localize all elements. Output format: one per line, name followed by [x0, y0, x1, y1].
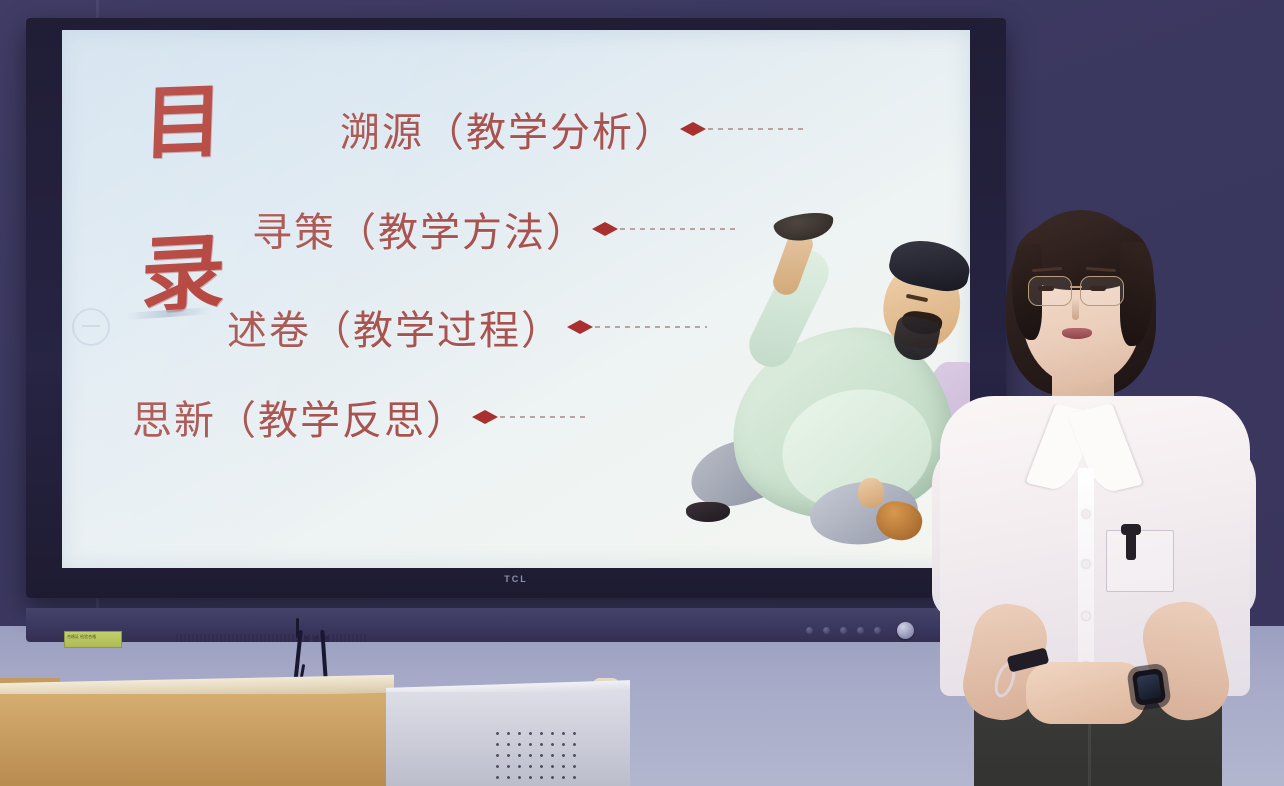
presenter-eye-right	[1090, 286, 1106, 291]
toc-item-3-label: 述卷（教学过程）	[227, 298, 563, 356]
tv-button-source[interactable]	[823, 627, 830, 634]
port-usb[interactable]	[304, 636, 309, 642]
toc-item-1-label: 溯源（教学分析）	[340, 100, 676, 158]
poet-figurine-illustration	[662, 210, 970, 568]
tv-button-standby[interactable]	[874, 627, 881, 634]
toc-item-3[interactable]: 述卷（教学过程）	[227, 298, 707, 356]
toc-item-4-label: 思新（教学反思）	[132, 388, 468, 446]
toc-item-1-dots	[708, 128, 804, 130]
tv-brand-logo: TCL	[26, 574, 1006, 584]
toc-item-1[interactable]: 溯源（教学分析）	[340, 100, 804, 158]
shirt-button-2	[1082, 560, 1090, 568]
lapel-microphone-icon	[1126, 526, 1136, 560]
tv-button-volume-down[interactable]	[840, 627, 847, 634]
presenter-mouth	[1062, 328, 1092, 339]
presenter	[930, 210, 1260, 786]
tv-control-row[interactable]	[806, 622, 914, 639]
figurine-shoe	[686, 502, 730, 522]
presenter-nose	[1072, 298, 1079, 320]
diamond-marker-icon	[472, 410, 498, 424]
toc-item-4-dots	[500, 416, 586, 418]
smart-watch[interactable]	[1132, 668, 1166, 706]
toc-item-2-label: 寻策（教学方法）	[252, 200, 588, 258]
shirt-button-3	[1082, 612, 1090, 620]
shirt-button-1	[1082, 510, 1090, 518]
eyeglasses-bridge	[1070, 286, 1082, 288]
certification-sticker: 合格证 检验合格	[64, 631, 122, 648]
port-hdmi[interactable]	[314, 636, 319, 642]
presenter-chest-pocket	[1106, 530, 1174, 592]
eyeglasses-lens-right	[1080, 276, 1124, 306]
classroom-scene: 目 录 溯源（教学分析） 寻策（教学方法）	[0, 0, 1284, 786]
toc-item-4[interactable]: 思新（教学反思）	[132, 388, 586, 446]
tv-power-button[interactable]	[897, 622, 914, 639]
diamond-marker-icon	[592, 222, 618, 236]
presenter-hands	[1026, 662, 1146, 724]
tv-button-volume-up[interactable]	[857, 627, 864, 634]
presenter-eye-left	[1038, 286, 1054, 291]
diamond-marker-icon	[680, 122, 706, 136]
tv-port-cluster[interactable]	[304, 636, 329, 642]
tv-button-menu[interactable]	[806, 627, 813, 634]
lectern-body[interactable]	[0, 694, 386, 786]
cable-far-right	[296, 618, 299, 638]
diamond-marker-icon	[567, 320, 593, 334]
figurine-wine-cup	[772, 210, 835, 244]
presentation-slide: 目 录 溯源（教学分析） 寻策（教学方法）	[62, 30, 970, 568]
eyeglasses-lens-left	[1028, 276, 1072, 306]
interactive-display[interactable]: 目 录 溯源（教学分析） 寻策（教学方法）	[26, 18, 1006, 598]
tv-vent-grille	[176, 634, 366, 642]
figurine-hand	[858, 478, 884, 508]
display-screen[interactable]: 目 录 溯源（教学分析） 寻策（教学方法）	[62, 30, 970, 568]
speaker-grille-icon	[492, 728, 584, 786]
